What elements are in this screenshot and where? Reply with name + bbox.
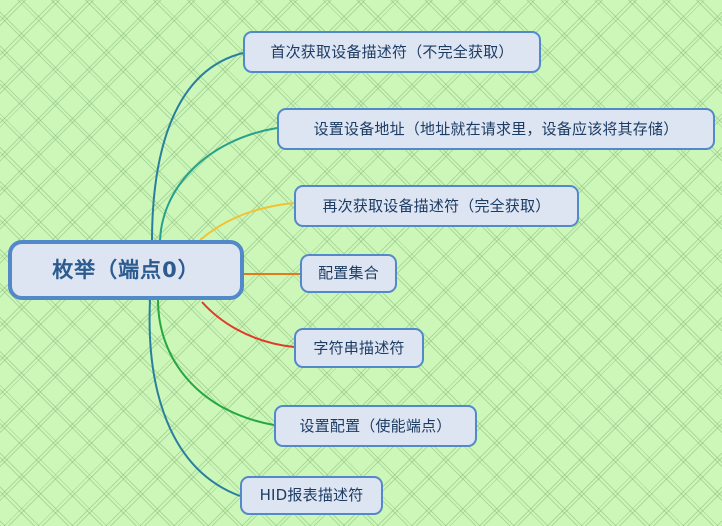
node-second-get-device-descriptor[interactable]: 再次获取设备描述符（完全获取） (294, 185, 579, 227)
node-configuration-set[interactable]: 配置集合 (300, 254, 397, 293)
connector-to-node-2 (200, 203, 294, 240)
connector-to-node-4 (202, 302, 294, 347)
root-node[interactable]: 枚举（端点0） (8, 240, 244, 300)
connector-to-node-6 (150, 300, 240, 496)
node-set-configuration[interactable]: 设置配置（使能端点） (274, 405, 477, 447)
mindmap-canvas: 枚举（端点0） 首次获取设备描述符（不完全获取） 设置设备地址（地址就在请求里，… (0, 0, 722, 526)
node-hid-report-descriptor[interactable]: HID报表描述符 (240, 476, 383, 515)
node-set-device-address[interactable]: 设置设备地址（地址就在请求里，设备应该将其存储） (277, 108, 715, 150)
connector-to-node-5 (158, 300, 274, 425)
node-first-get-device-descriptor[interactable]: 首次获取设备描述符（不完全获取） (243, 31, 541, 73)
node-string-descriptor[interactable]: 字符串描述符 (294, 328, 424, 368)
